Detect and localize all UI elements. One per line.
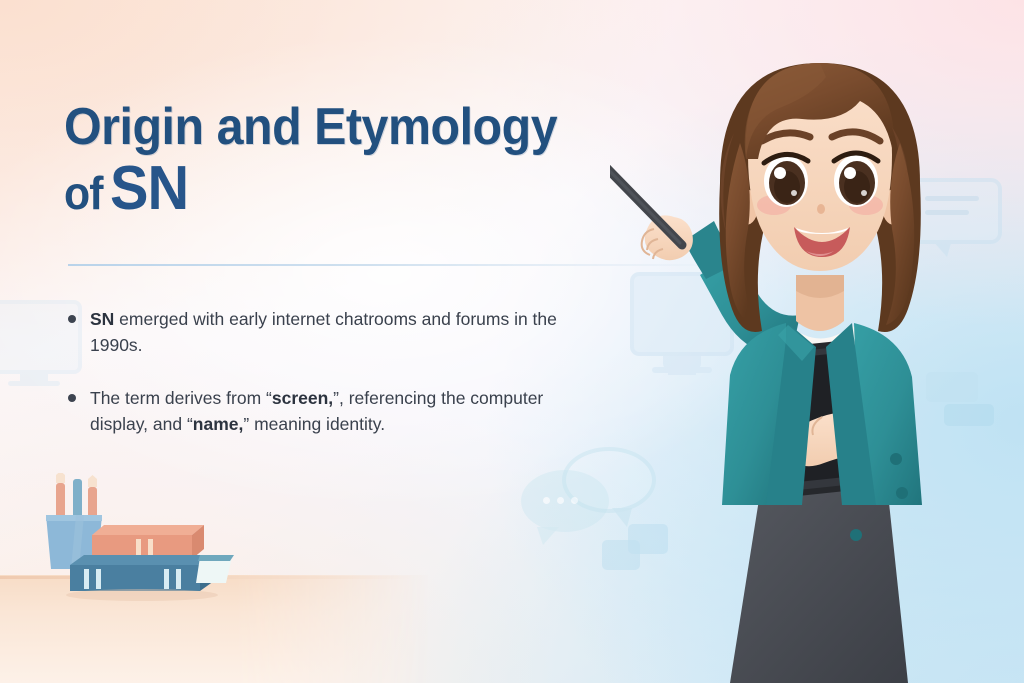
chat-bubble-icon <box>521 470 609 532</box>
bullet-2-pre: The term derives from “ <box>90 388 272 408</box>
bullet-dot-icon <box>68 315 76 323</box>
title-line-two: ofSN <box>64 159 622 219</box>
title-acronym: SN <box>110 154 188 223</box>
nose <box>817 204 825 214</box>
desk-items-illustration <box>24 473 274 613</box>
hand-with-pointer <box>642 215 693 260</box>
bullet-2-bold-screen: screen, <box>272 388 333 408</box>
bullet-2-bold-name: name, <box>193 414 244 434</box>
bullet-list: SN emerged with early internet chatrooms… <box>66 288 566 464</box>
neck <box>796 275 844 331</box>
bullet-1-text: emerged with early internet chatrooms an… <box>90 309 557 356</box>
list-item: The term derives from “screen,”, referen… <box>66 385 560 438</box>
ellipsis-dots-icon <box>543 497 578 504</box>
bullet-dot-icon <box>68 394 76 402</box>
page-title: Origin and Etymology ofSN <box>64 103 664 218</box>
list-item: SN emerged with early internet chatrooms… <box>66 306 560 359</box>
slide-canvas: Origin and Etymology ofSN SN emerged wit… <box>0 0 1024 683</box>
bullet-1-bold: SN <box>90 309 114 329</box>
title-line-one: Origin and Etymology <box>64 103 622 153</box>
presenter-illustration <box>610 23 1024 683</box>
title-preposition: of <box>64 167 103 219</box>
skirt <box>730 485 908 683</box>
bullet-2-post: ” meaning identity. <box>243 414 385 434</box>
